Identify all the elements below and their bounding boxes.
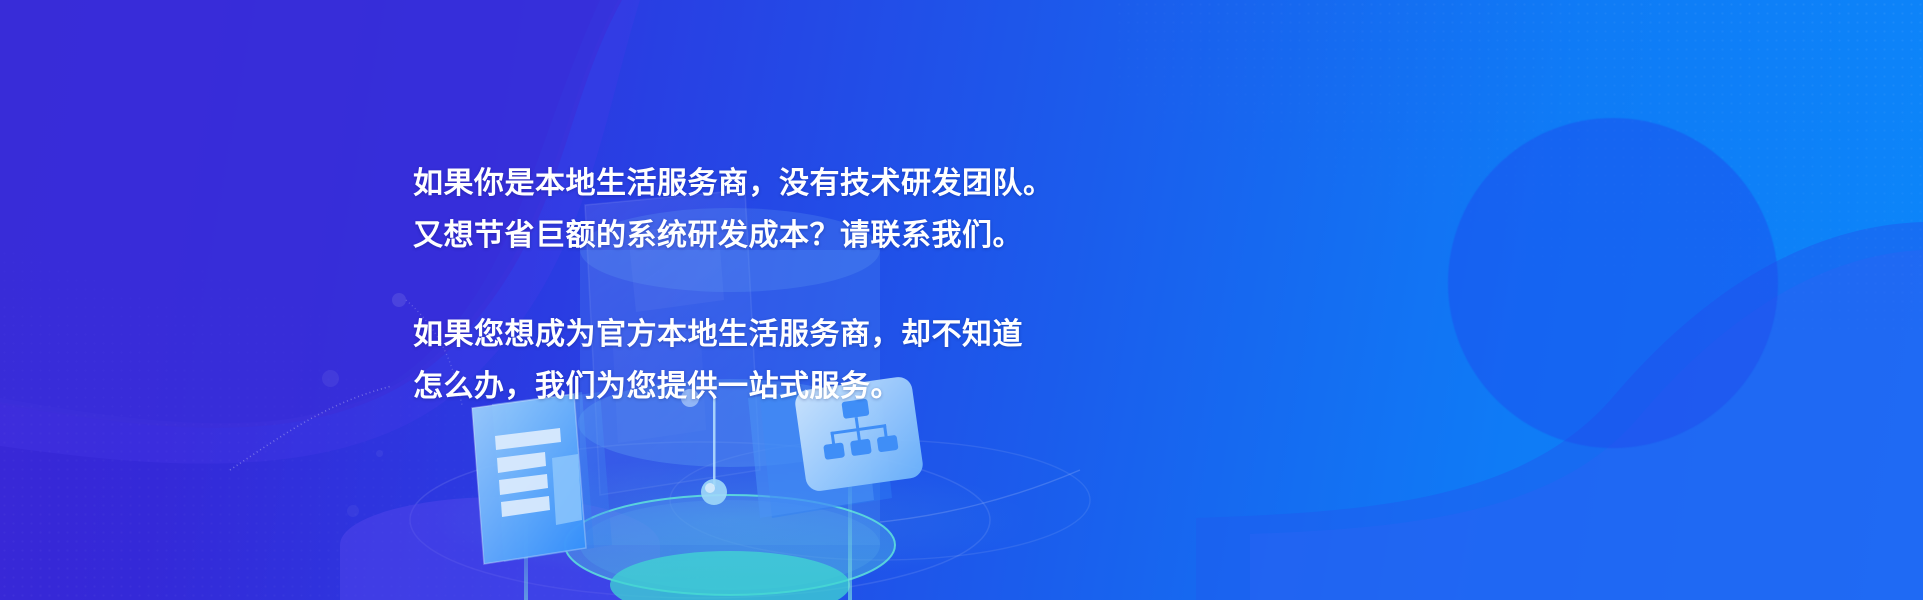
paragraph-1-line-1: 如果你是本地生活服务商，没有技术研发团队。 <box>413 167 1054 200</box>
paragraph-1: 如果你是本地生活服务商，没有技术研发团队。 又想节省巨额的系统研发成本？请联系我… <box>413 158 1233 262</box>
connector-line-left <box>230 386 392 470</box>
hero-banner: 如果你是本地生活服务商，没有技术研发团队。 又想节省巨额的系统研发成本？请联系我… <box>0 0 1923 600</box>
paragraph-2-line-2: 怎么办，我们为您提供一站式服务。 <box>413 370 901 403</box>
paragraph-2: 如果您想成为官方本地生活服务商，却不知道 怎么办，我们为您提供一站式服务。 <box>413 309 1233 413</box>
paragraph-1-line-2: 又想节省巨额的系统研发成本？请联系我们。 <box>413 219 1023 252</box>
paragraph-2-line-1: 如果您想成为官方本地生活服务商，却不知道 <box>413 318 1023 351</box>
banner-copy: 如果你是本地生活服务商，没有技术研发团队。 又想节省巨额的系统研发成本？请联系我… <box>413 158 1233 413</box>
